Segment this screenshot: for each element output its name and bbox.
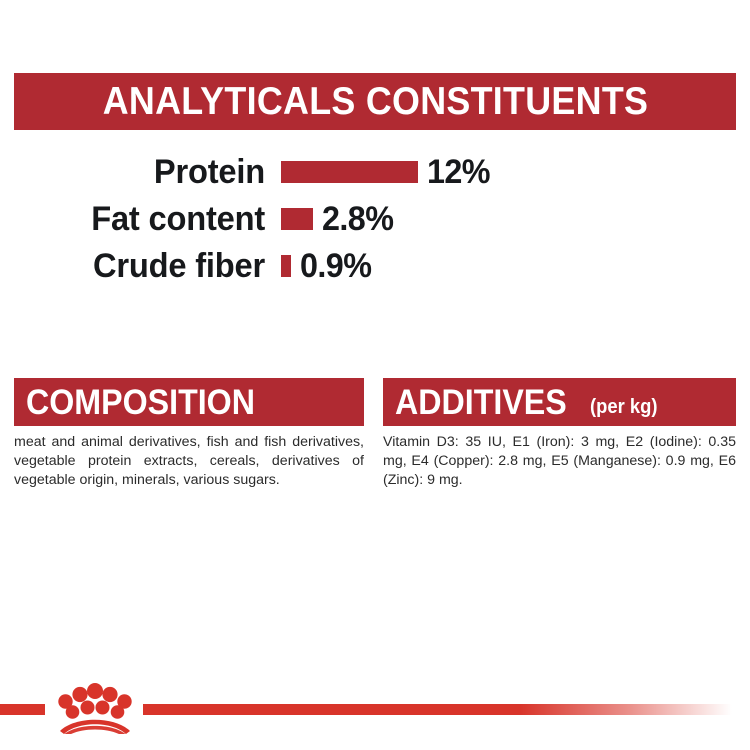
nutrition-panel: ANALYTICALS CONSTITUENTS Protein 12% Fat…: [0, 0, 750, 750]
chart-row-label: Protein: [11, 155, 265, 189]
chart-row-crude-fiber: Crude fiber 0.9%: [0, 242, 750, 289]
chart-value-crude-fiber: 0.9%: [300, 249, 371, 283]
chart-row-label: Fat content: [11, 202, 265, 236]
additives-section: ADDITIVES (per kg) Vitamin D3: 35 IU, E1…: [383, 378, 736, 490]
footer-rule-right: [143, 704, 750, 715]
footer-brand-strip: [0, 700, 750, 750]
additives-title: ADDITIVES: [395, 385, 567, 420]
page-title: ANALYTICALS CONSTITUENTS: [102, 82, 648, 121]
chart-row-label: Crude fiber: [11, 249, 265, 283]
composition-header: COMPOSITION: [14, 378, 364, 426]
chart-bar-fat-content: [281, 208, 313, 230]
analytical-constituents-header: ANALYTICALS CONSTITUENTS: [14, 73, 736, 130]
chart-bar-protein: [281, 161, 418, 183]
analytical-constituents-chart: Protein 12% Fat content 2.8% Crude fiber…: [0, 148, 750, 289]
chart-value-protein: 12%: [427, 155, 490, 189]
chart-value-fat-content: 2.8%: [322, 202, 393, 236]
footer-rule-left: [0, 704, 45, 715]
chart-row-protein: Protein 12%: [0, 148, 750, 195]
chart-row-fat-content: Fat content 2.8%: [0, 195, 750, 242]
additives-header: ADDITIVES (per kg): [383, 378, 736, 426]
composition-title: COMPOSITION: [26, 385, 255, 420]
composition-text: meat and animal derivatives, fish and fi…: [14, 433, 364, 490]
additives-text: Vitamin D3: 35 IU, E1 (Iron): 3 mg, E2 (…: [383, 433, 736, 490]
composition-section: COMPOSITION meat and animal derivatives,…: [14, 378, 364, 490]
royal-canin-crown-icon: [49, 678, 141, 734]
chart-bar-crude-fiber: [281, 255, 291, 277]
additives-subtitle: (per kg): [590, 397, 657, 417]
